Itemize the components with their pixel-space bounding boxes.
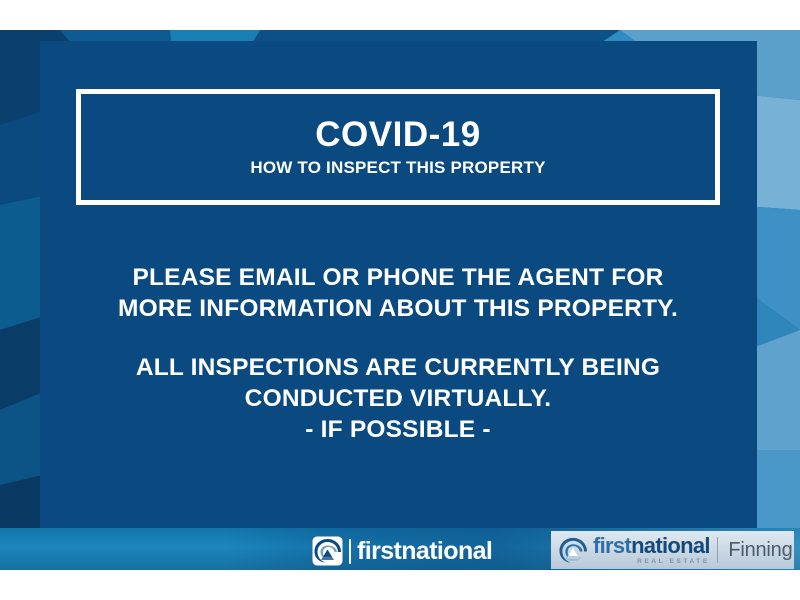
- paragraph-1-line-1: PLEASE EMAIL OR PHONE THE AGENT FOR: [76, 262, 720, 293]
- office-logo-tagline: REAL ESTATE: [593, 559, 710, 566]
- primary-brand-logo: firstnational: [312, 536, 492, 566]
- paragraph-2-line-1: ALL INSPECTIONS ARE CURRENTLY BEING: [76, 352, 720, 383]
- office-logo-wordmark-second: national: [631, 533, 710, 558]
- slide-canvas: COVID-19 HOW TO INSPECT THIS PROPERTY PL…: [0, 0, 800, 600]
- page-title: COVID-19: [315, 117, 480, 154]
- office-logo-divider: [717, 537, 719, 563]
- page-subtitle: HOW TO INSPECT THIS PROPERTY: [250, 159, 545, 177]
- paragraph-1-line-2: MORE INFORMATION ABOUT THIS PROPERTY.: [76, 293, 720, 324]
- paragraph-spacer: [76, 325, 720, 352]
- message-paragraph-2: ALL INSPECTIONS ARE CURRENTLY BEING COND…: [76, 352, 720, 446]
- office-name: Finning: [728, 540, 792, 560]
- office-logo-nameblock: firstnational REAL ESTATE: [593, 535, 710, 566]
- firstnational-swirl-icon: [558, 536, 588, 565]
- message-body: PLEASE EMAIL OR PHONE THE AGENT FOR MORE…: [76, 262, 720, 446]
- paragraph-2-line-3: - IF POSSIBLE -: [76, 414, 720, 445]
- logo-divider: [349, 539, 351, 564]
- office-brand-logo: firstnational REAL ESTATE Finning: [551, 531, 794, 569]
- primary-logo-wordmark: firstnational: [357, 539, 492, 564]
- office-logo-wordmark: firstnational: [593, 535, 710, 557]
- firstnational-swirl-icon: [312, 536, 343, 566]
- title-frame: COVID-19 HOW TO INSPECT THIS PROPERTY: [76, 89, 720, 205]
- paragraph-2-line-2: CONDUCTED VIRTUALLY.: [76, 383, 720, 414]
- message-paragraph-1: PLEASE EMAIL OR PHONE THE AGENT FOR MORE…: [76, 262, 720, 325]
- office-logo-wordmark-first: first: [593, 533, 631, 558]
